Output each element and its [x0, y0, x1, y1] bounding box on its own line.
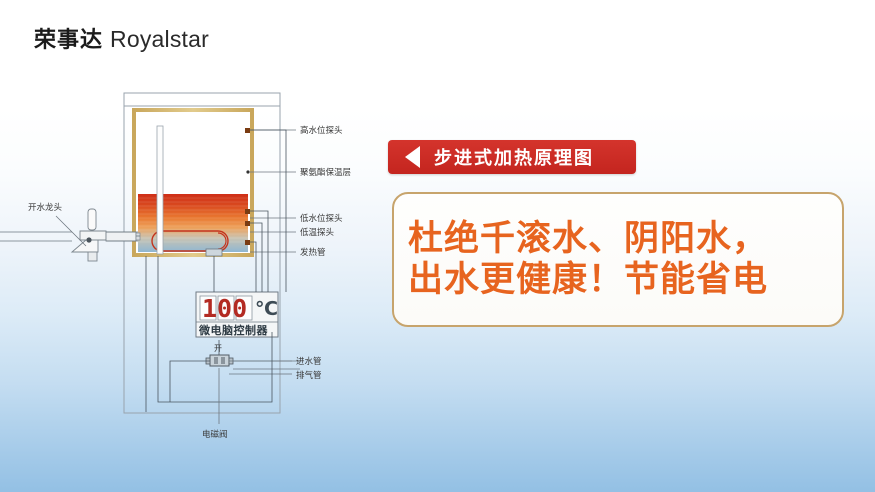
label-high-water-probe: 高水位探头 [300, 125, 343, 136]
faucet-shape [72, 209, 140, 261]
solenoid-valve-shape [206, 355, 233, 366]
label-heating-tube: 发热管 [300, 247, 326, 258]
label-exhaust-pipe: 排气管 [296, 370, 322, 381]
section-ribbon: 步进式加热原理图 [388, 140, 636, 174]
label-low-temp-probe: 低温探头 [300, 227, 335, 238]
label-valve-open: 开 [214, 344, 222, 353]
controller-panel: 100 ℃ 微电脑控制器 [196, 292, 278, 337]
slogan-card: 杜绝千滚水、阴阳水， 出水更健康！节能省电 [392, 192, 844, 327]
ribbon-title: 步进式加热原理图 [434, 144, 594, 170]
slide-canvas: 荣事达 Royalstar [0, 0, 875, 492]
controller-caption: 微电脑控制器 [198, 323, 268, 337]
controller-unit: ℃ [255, 298, 278, 320]
label-inlet-pipe: 进水管 [296, 356, 322, 367]
label-low-water-probe: 低水位探头 [300, 213, 343, 224]
controller-value: 100 [202, 294, 247, 323]
triangle-left-icon [405, 146, 420, 168]
label-insulation-layer: 聚氨酯保温层 [300, 167, 351, 178]
label-faucet: 开水龙头 [28, 202, 63, 213]
slogan-line-2: 出水更健康！节能省电 [408, 260, 842, 301]
slogan-line-1: 杜绝千滚水、阴阳水， [408, 219, 842, 260]
label-solenoid-valve: 电磁阀 [202, 429, 228, 440]
